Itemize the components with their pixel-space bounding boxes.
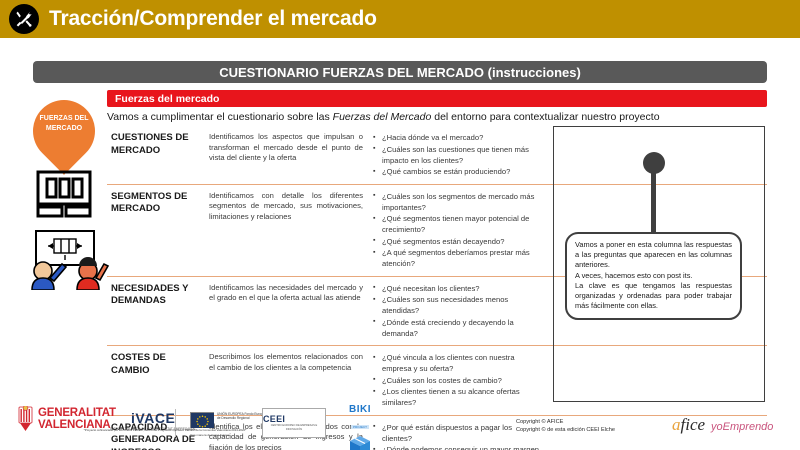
- fuerzas-del-mercado-pin: FUERZAS DEL MERCADO: [33, 100, 95, 178]
- biki-wordmark: BIKI: [340, 404, 380, 415]
- question-item: ¿Cuáles son los costes de cambio?: [373, 375, 543, 386]
- eu-feder-logo: UNIÓN EUROPEA Fondo Europeo de Desarroll…: [190, 412, 269, 428]
- eu-note: Una manera de hacer Europa: [190, 433, 230, 437]
- ivace-wordmark: iVACE: [110, 410, 196, 426]
- row-questions: ¿Cuáles son los segmentos de mercado más…: [369, 185, 549, 276]
- eu-flag-icon: [190, 412, 214, 428]
- subsection-title-text: Fuerzas del mercado: [107, 93, 219, 105]
- pin-label-line2: MERCADO: [33, 124, 95, 134]
- yoemprendo-wordmark: yoEmprendo: [711, 421, 773, 433]
- intro-before: Vamos a cumplimentar el cuestionario sob…: [107, 111, 333, 123]
- question-item: ¿Cuáles son las cuestiones que tienen má…: [373, 144, 543, 166]
- biki-cube-icon: [349, 435, 371, 450]
- row-questions: ¿Hacia dónde va el mercado? ¿Cuáles son …: [369, 126, 549, 184]
- callout-pin-stem: [651, 170, 656, 237]
- market-grid-icon: [36, 170, 92, 218]
- logo-divider: [175, 409, 176, 437]
- row-title: SEGMENTOS DE MERCADO: [107, 185, 207, 276]
- copyright-block: Copyright © AFICE Copyright © de esta ed…: [516, 418, 615, 434]
- question-item: ¿Qué segmentos están decayendo?: [373, 236, 543, 247]
- gva-shield-icon: [18, 406, 33, 432]
- ceei-wordmark: CEEI: [263, 414, 325, 424]
- copyright-line-1: Copyright © AFICE: [516, 418, 615, 426]
- biki-logo: BIKI PROJECT: [340, 404, 380, 450]
- row-title: CUESTIONES DE MERCADO: [107, 126, 207, 184]
- question-item: ¿Cuáles son los segmentos de mercado más…: [373, 191, 543, 213]
- question-item: ¿Hacia dónde va el mercado?: [373, 132, 543, 143]
- question-item: ¿Qué vincula a los clientes con nuestra …: [373, 352, 543, 374]
- callout-line-1: Vamos a poner en esta columna las respue…: [575, 240, 732, 271]
- row-description: Identificamos las necesidades del mercad…: [207, 277, 369, 346]
- afice-yoemprendo-logos: afice yoEmprendo: [672, 415, 773, 435]
- section-title-bar: CUESTIONARIO FUERZAS DEL MERCADO (instru…: [33, 61, 767, 83]
- question-item: ¿Qué cambios se están produciendo?: [373, 166, 543, 177]
- question-item: ¿Qué necesitan los clientes?: [373, 283, 543, 294]
- ceei-subtitle: CENTRO EUROPEO DE EMPRESAS E INNOVACIÓN: [263, 424, 325, 431]
- callout-line-2: A veces, hacemos esto con post its.: [575, 271, 732, 281]
- question-item: ¿A qué segmentos deberíamos prestar más …: [373, 247, 543, 269]
- gva-line1: GENERALITAT: [38, 407, 116, 420]
- subsection-bar: Fuerzas del mercado: [107, 90, 767, 107]
- table-row: CUESTIONES DE MERCADO Identificamos los …: [107, 126, 767, 184]
- tools-badge-icon: [9, 4, 39, 34]
- instruction-callout: Vamos a poner en esta columna las respue…: [565, 232, 742, 320]
- pin-label-line1: FUERZAS DEL: [33, 114, 95, 124]
- slide-header: Tracción/Comprender el mercado: [0, 0, 800, 38]
- section-title-text: CUESTIONARIO FUERZAS DEL MERCADO (instru…: [219, 65, 581, 80]
- row-questions: ¿Qué necesitan los clientes? ¿Cuáles son…: [369, 277, 549, 346]
- callout-line-3: La clave es que tengamos las respuestas …: [575, 281, 732, 312]
- copyright-line-2: Copyright © de esta edición CEEI Elche: [516, 426, 615, 434]
- question-item: ¿Dónde está creciendo y decayendo la dem…: [373, 317, 543, 339]
- intro-after: del entorno para contextualizar nuestro …: [431, 111, 659, 123]
- people-board-icon: [18, 228, 110, 290]
- afice-wordmark: afice: [672, 415, 705, 435]
- question-item: ¿Cuáles son sus necesidades menos atendi…: [373, 294, 543, 316]
- page-title: Tracción/Comprender el mercado: [49, 7, 377, 31]
- biki-subtitle: PROJECT: [351, 425, 369, 429]
- question-item: ¿Qué segmentos tienen mayor potencial de…: [373, 213, 543, 235]
- ceei-logo: CEEI CENTRO EUROPEO DE EMPRESAS E INNOVA…: [262, 408, 326, 438]
- row-title: NECESIDADES Y DEMANDAS: [107, 277, 207, 346]
- intro-text: Vamos a cumplimentar el cuestionario sob…: [107, 111, 767, 123]
- pin-label: FUERZAS DEL MERCADO: [33, 114, 95, 134]
- afice-rest: fice: [681, 415, 706, 434]
- callout-pin-head-icon: [643, 152, 665, 174]
- intro-emphasis: Fuerzas del Mercado: [333, 111, 432, 123]
- funding-disclaimer: *Proyecto cofinanciado por los fondos FE…: [60, 428, 270, 432]
- slide: Tracción/Comprender el mercado CUESTIONA…: [0, 0, 800, 450]
- row-description: Identificamos los aspectos que impulsan …: [207, 126, 369, 184]
- row-description: Identificamos con detalle los diferentes…: [207, 185, 369, 276]
